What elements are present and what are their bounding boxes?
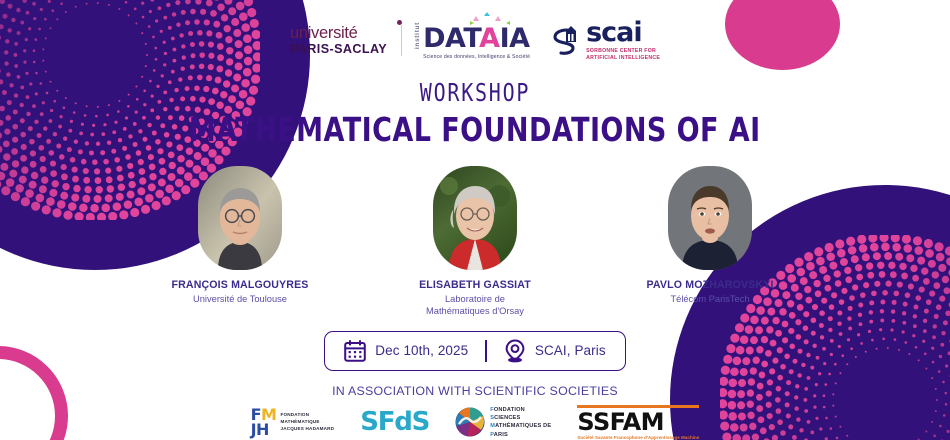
universite-paris-saclay-logo: université PARIS-SACLAY — [290, 25, 402, 56]
fsmp-emblem-icon — [455, 407, 485, 437]
ups-line2: PARIS-SACLAY — [290, 43, 387, 56]
ups-line1: université — [290, 25, 358, 42]
ssfam-wordmark: SSFAM — [577, 410, 699, 434]
avatar — [433, 166, 517, 270]
dataia-sparkles-icon — [470, 12, 525, 26]
page-title: MATHEMATICAL FOUNDATIONS OF AI — [189, 110, 761, 149]
sfds-logo: SFdS — [360, 409, 429, 435]
workshop-eyebrow-title: WORKSHOP — [420, 78, 530, 107]
partner-logo-row: université PARIS-SACLAY institut DATAIA … — [290, 19, 660, 62]
dataia-institut-label: institut — [414, 22, 421, 49]
map-pin-icon — [504, 339, 526, 363]
ssfam-tagline: Société Savante Francophone d'Apprentiss… — [577, 436, 699, 440]
scai-sub-line2: ARTIFICIAL INTELLIGENCE — [586, 55, 660, 62]
fmjh-logo: FM JH FONDATION MATHÉMATIQUE . JACQUES H… — [251, 407, 335, 437]
dataia-word-a: DAT — [423, 23, 479, 54]
association-title: IN ASSOCIATION WITH SCIENTIFIC SOCIETIES — [332, 384, 618, 398]
dataia-tagline: Science des données, Intelligence & Soci… — [423, 54, 530, 60]
speaker-card: PAVLO MOZHAROVSKYI Télécom ParisTech — [623, 166, 798, 317]
workshop-poster: université PARIS-SACLAY institut DATAIA … — [0, 0, 950, 440]
avatar — [668, 166, 752, 270]
dataia-word-b: A — [479, 23, 499, 54]
fsmp-text-line2: SCIENCES — [490, 414, 551, 422]
dataia-word-c: I — [500, 23, 510, 54]
dataia-logo: institut DATAIA Science des données, Int… — [402, 22, 530, 60]
portrait-pavlo-mozharovskyi — [668, 166, 752, 270]
calendar-icon — [344, 340, 366, 362]
fmjh-text-line3: JACQUES HADAMARD — [280, 426, 334, 433]
fmjh-text-line2: MATHÉMATIQUE . — [280, 419, 334, 426]
fmjh-monogram-line2: JH — [251, 422, 277, 437]
avatar — [198, 166, 282, 270]
speaker-affiliation: Télécom ParisTech — [623, 294, 798, 306]
speaker-name: PAVLO MOZHAROVSKYI — [623, 279, 798, 291]
dataia-word-d: A — [509, 23, 529, 54]
speakers-list: FRANÇOIS MALGOUYRES Université de Toulou… — [153, 166, 798, 317]
fsmp-wordmark: FONDATION SCIENCES MATHÉMATIQUES DE PARI… — [490, 406, 551, 440]
portrait-francois-malgouyres — [198, 166, 282, 270]
fmjh-wordmark: FONDATION MATHÉMATIQUE . JACQUES HADAMAR… — [280, 412, 334, 432]
speaker-affiliation: Laboratoire deMathématiques d'Orsay — [388, 294, 563, 317]
speaker-card: FRANÇOIS MALGOUYRES Université de Toulou… — [153, 166, 328, 317]
ssfam-logo: SSFAM Société Savante Francophone d'Appr… — [577, 405, 699, 440]
association-partner-logos: FM JH FONDATION MATHÉMATIQUE . JACQUES H… — [251, 405, 700, 440]
fsmp-text-line3: MATHÉMATIQUES DE — [490, 422, 551, 430]
infobar-divider — [485, 340, 487, 362]
fmjh-monogram: FM JH — [251, 407, 277, 437]
speaker-name: ELISABETH GASSIAT — [388, 279, 563, 291]
fsmp-logo: FONDATION SCIENCES MATHÉMATIQUES DE PARI… — [455, 406, 551, 440]
fsmp-text-line1: FONDATION — [490, 406, 551, 414]
scai-logo: scai SORBONNE CENTER FOR ARTIFICIAL INTE… — [552, 19, 660, 62]
event-location-text: SCAI, Paris — [535, 343, 606, 358]
portrait-elisabeth-gassiat — [433, 166, 517, 270]
speaker-card: ELISABETH GASSIAT Laboratoire deMathémat… — [388, 166, 563, 317]
speaker-affiliation: Université de Toulouse — [153, 294, 328, 306]
scai-sub-line1: SORBONNE CENTER FOR — [586, 48, 660, 55]
event-date: Dec 10th, 2025 — [344, 340, 468, 362]
fsmp-text-line4: PARIS — [490, 431, 551, 439]
dataia-wordmark: DATAIA — [423, 25, 530, 52]
scai-wordmark: scai — [586, 19, 660, 46]
speaker-name: FRANÇOIS MALGOUYRES — [153, 279, 328, 291]
event-date-text: Dec 10th, 2025 — [375, 343, 468, 358]
scai-emblem-icon — [552, 22, 581, 60]
event-location: SCAI, Paris — [504, 339, 606, 363]
event-info-bar: Dec 10th, 2025 SCAI, Paris — [324, 331, 625, 371]
fmjh-text-line1: FONDATION — [280, 412, 334, 419]
